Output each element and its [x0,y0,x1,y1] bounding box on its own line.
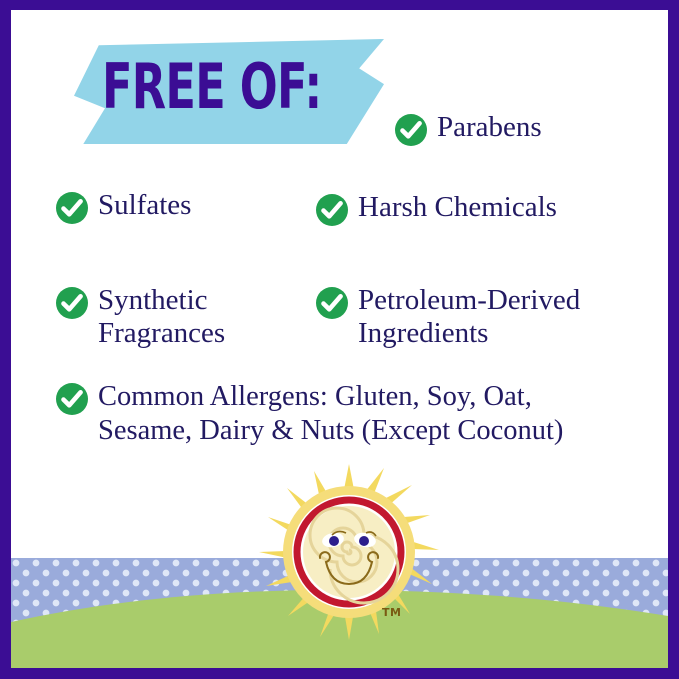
feature-item-harsh-chemicals: Harsh Chemicals [315,191,557,227]
feature-item-petroleum-derived: Petroleum-Derived Ingredients [315,284,580,350]
right-eye-pupil [359,536,369,546]
trademark-symbol: TM [382,606,401,619]
feature-item-sulfates: Sulfates [55,189,191,225]
feature-item-parabens: Parabens [394,111,542,147]
check-circle-icon [394,113,428,147]
feature-label: Synthetic Fragrances [98,284,225,350]
check-circle-icon [55,382,89,416]
left-eye-pupil [329,536,339,546]
feature-label: Common Allergens: Gluten, Soy, Oat, Sesa… [98,380,563,448]
check-circle-icon [55,191,89,225]
feature-label: Harsh Chemicals [358,191,557,224]
check-circle-icon [55,286,89,320]
check-circle-icon [315,286,349,320]
banner-heading: FREE OF: [102,48,321,126]
feature-label: Petroleum-Derived Ingredients [358,284,580,350]
product-info-card: FREE OF: Parabens Sulfates [0,0,679,679]
feature-item-synthetic-fragrances: Synthetic Fragrances [55,284,225,350]
card-inner-panel: FREE OF: Parabens Sulfates [11,10,668,668]
check-circle-icon [315,193,349,227]
smiling-sun-logo [254,462,444,642]
free-of-banner: FREE OF: [74,39,384,144]
feature-label: Parabens [437,111,542,144]
feature-label: Sulfates [98,189,191,222]
feature-item-common-allergens: Common Allergens: Gluten, Soy, Oat, Sesa… [55,380,563,448]
